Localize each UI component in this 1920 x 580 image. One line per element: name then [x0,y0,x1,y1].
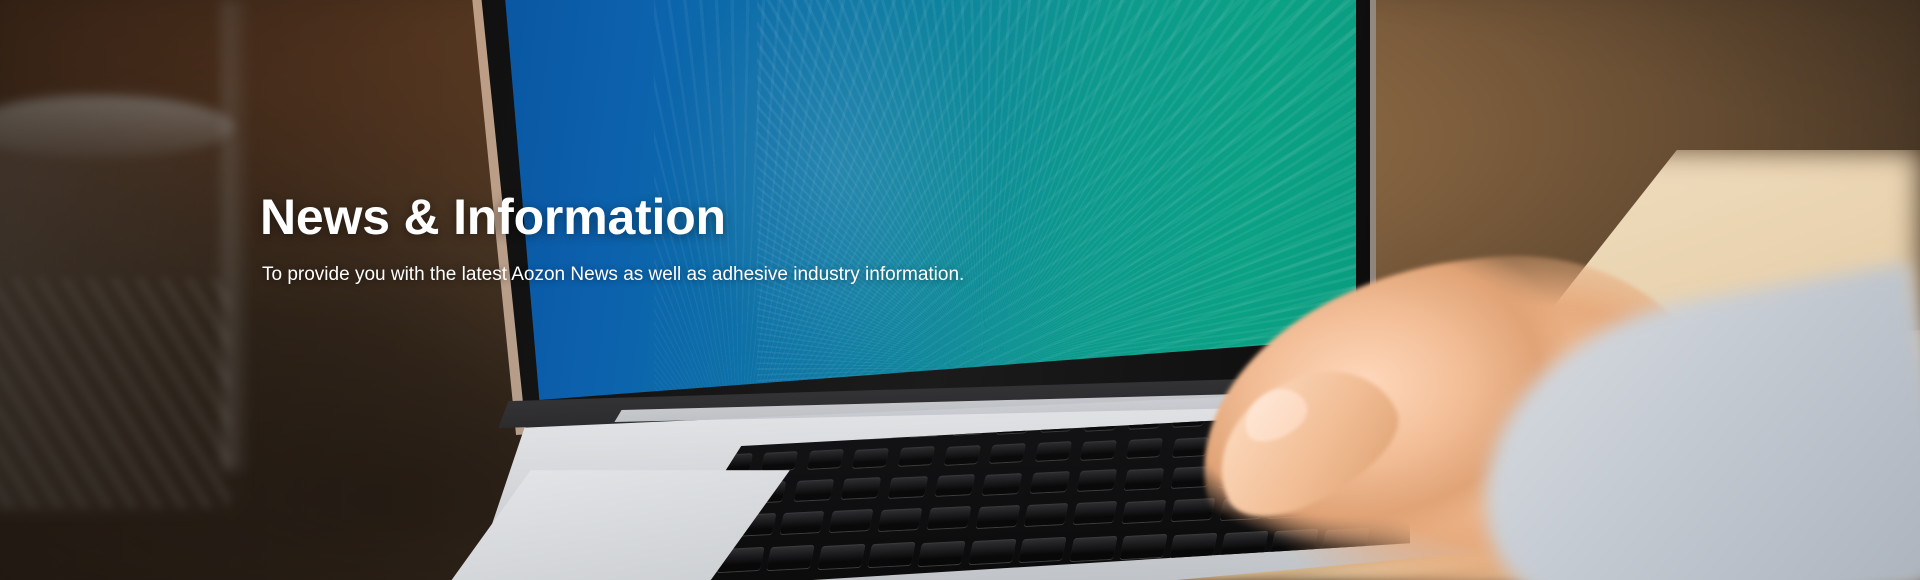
hero-copy: News & Information To provide you with t… [260,190,1160,288]
page-title: News & Information [260,190,1160,244]
page-subtitle: To provide you with the latest Aozon New… [262,262,1160,288]
news-hero-banner: AOZON STICK WITH YOU 澳中·与你同行 www.dgaozon… [0,0,1920,580]
